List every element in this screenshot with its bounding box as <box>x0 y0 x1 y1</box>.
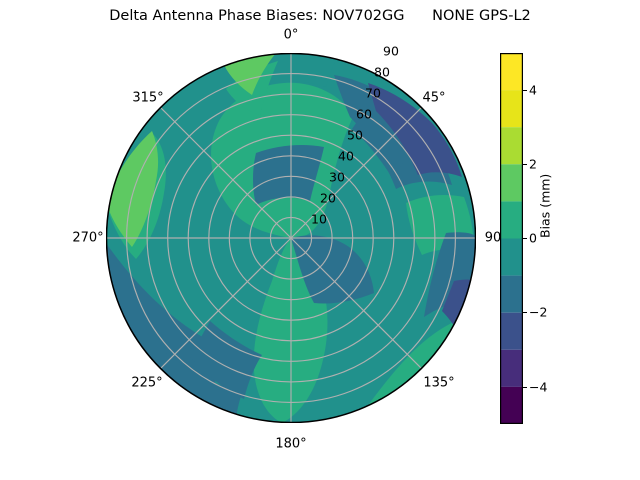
radial-label-80: 80 <box>374 65 390 80</box>
radial-label-20: 20 <box>320 191 336 206</box>
colorbar-tick-mark-m4 <box>523 387 527 388</box>
colorbar-tick-label-0: 0 <box>529 231 537 246</box>
figure-canvas: Delta Antenna Phase Biases: NOV702GG NON… <box>0 0 640 480</box>
angular-label-270: 270° <box>72 231 103 246</box>
colorbar-gradient <box>500 53 523 424</box>
colorbar-tick-label-4: 4 <box>529 83 537 98</box>
colorbar-tick-label-2: 2 <box>529 157 537 172</box>
colorbar[interactable] <box>500 53 523 424</box>
radial-label-70: 70 <box>365 86 381 101</box>
colorbar-tick-mark-0 <box>523 238 527 239</box>
colorbar-tick-label-m4: −4 <box>529 380 547 395</box>
colorbar-tick-label-m2: −2 <box>529 305 547 320</box>
radial-label-60: 60 <box>356 107 372 122</box>
figure-title: Delta Antenna Phase Biases: NOV702GG NON… <box>0 8 640 24</box>
angular-label-135: 135° <box>423 376 454 391</box>
angular-label-180: 180° <box>275 437 306 452</box>
radial-label-40: 40 <box>338 149 354 164</box>
polar-axes: 0° 45° 90 135° 180° 225° 270° 315° 10 20… <box>106 53 476 423</box>
colorbar-tick-mark-4 <box>523 90 527 91</box>
angular-label-225: 225° <box>131 376 162 391</box>
radial-label-10: 10 <box>311 212 327 227</box>
angular-label-45: 45° <box>422 91 445 106</box>
angular-label-90: 90 <box>485 231 502 246</box>
polar-grid <box>106 53 476 423</box>
angular-label-315: 315° <box>132 91 163 106</box>
radial-label-50: 50 <box>347 128 363 143</box>
colorbar-tick-mark-2 <box>523 164 527 165</box>
colorbar-axis-label: Bias (mm) <box>538 174 553 238</box>
colorbar-tick-mark-m2 <box>523 312 527 313</box>
radial-label-30: 30 <box>329 170 345 185</box>
angular-label-0: 0° <box>284 28 299 43</box>
polar-contour-plot <box>106 53 476 423</box>
radial-label-90: 90 <box>383 44 399 59</box>
